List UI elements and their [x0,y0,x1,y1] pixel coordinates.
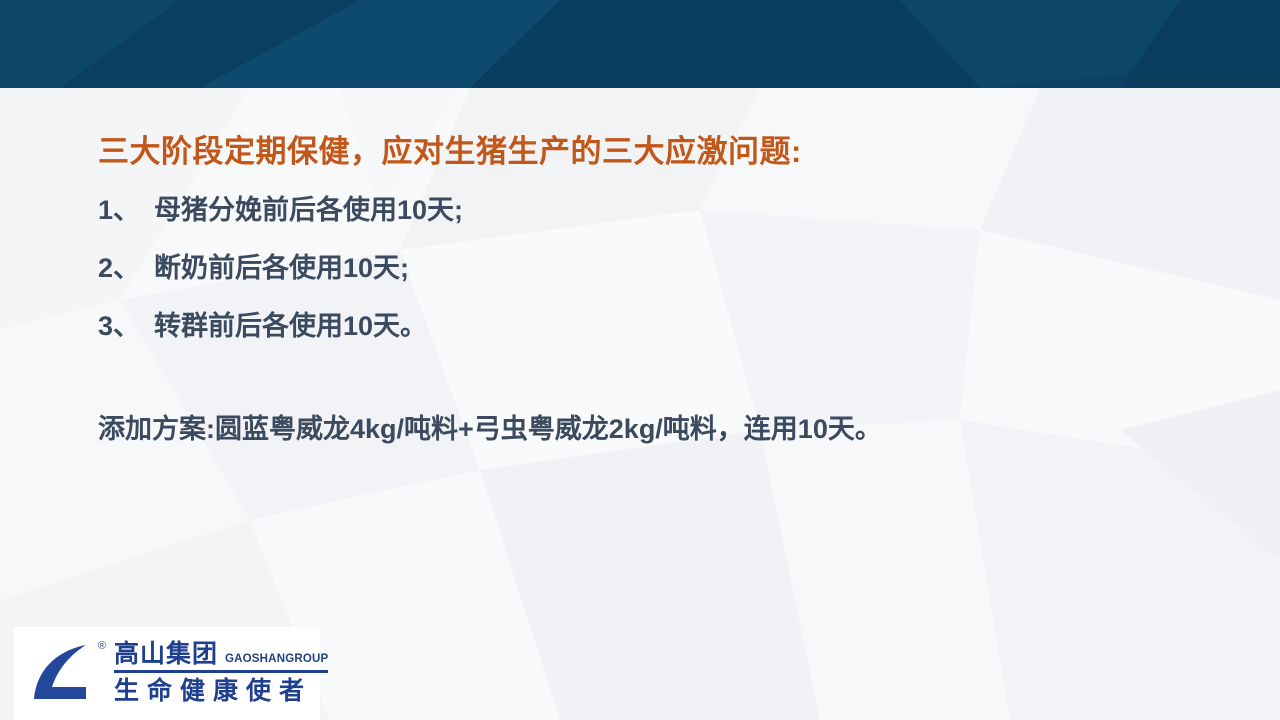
list-item-label: 断奶前后各使用10天; [154,246,409,285]
logo-company-name-en: GAOSHANGROUP [225,654,328,668]
header-band [0,0,1280,88]
logo-wordmark: 高山集团 GAOSHANGROUP 生命健康使者 [114,642,328,704]
logo-divider [114,670,328,673]
logo-company-name-cn: 高山集团 [114,642,218,667]
slide-content: 三大阶段定期保健，应对生猪生产的三大应激问题: 1、 母猪分娩前后各使用10天;… [0,88,1280,720]
header-band-facets [0,0,1280,88]
list-item-label: 母猪分娩前后各使用10天; [154,188,463,227]
registered-trademark-icon: ® [98,641,106,652]
logo-slogan: 生命健康使者 [114,678,328,704]
slide-canvas: 三大阶段定期保健，应对生猪生产的三大应激问题: 1、 母猪分娩前后各使用10天;… [0,0,1280,720]
list-item: 3、 转群前后各使用10天。 [98,304,1198,362]
company-logo: ® 高山集团 GAOSHANGROUP 生命健康使者 [14,627,320,720]
list-item-index: 3、 [98,304,154,343]
list-item: 1、 母猪分娩前后各使用10天; [98,188,1198,246]
logo-top-row: 高山集团 GAOSHANGROUP [114,642,328,670]
list-item-label: 转群前后各使用10天。 [154,304,427,343]
page-title: 三大阶段定期保健，应对生猪生产的三大应激问题: [98,126,802,171]
list-item-index: 1、 [98,188,154,227]
bullet-list: 1、 母猪分娩前后各使用10天; 2、 断奶前后各使用10天; 3、 转群前后各… [98,188,1198,362]
list-item-index: 2、 [98,246,154,285]
gaoshan-swoosh-icon: ® [24,639,108,709]
dosage-plan-text: 添加方案:圆蓝粤威龙4kg/吨料+弓虫粤威龙2kg/吨料，连用10天。 [98,407,882,446]
list-item: 2、 断奶前后各使用10天; [98,246,1198,304]
